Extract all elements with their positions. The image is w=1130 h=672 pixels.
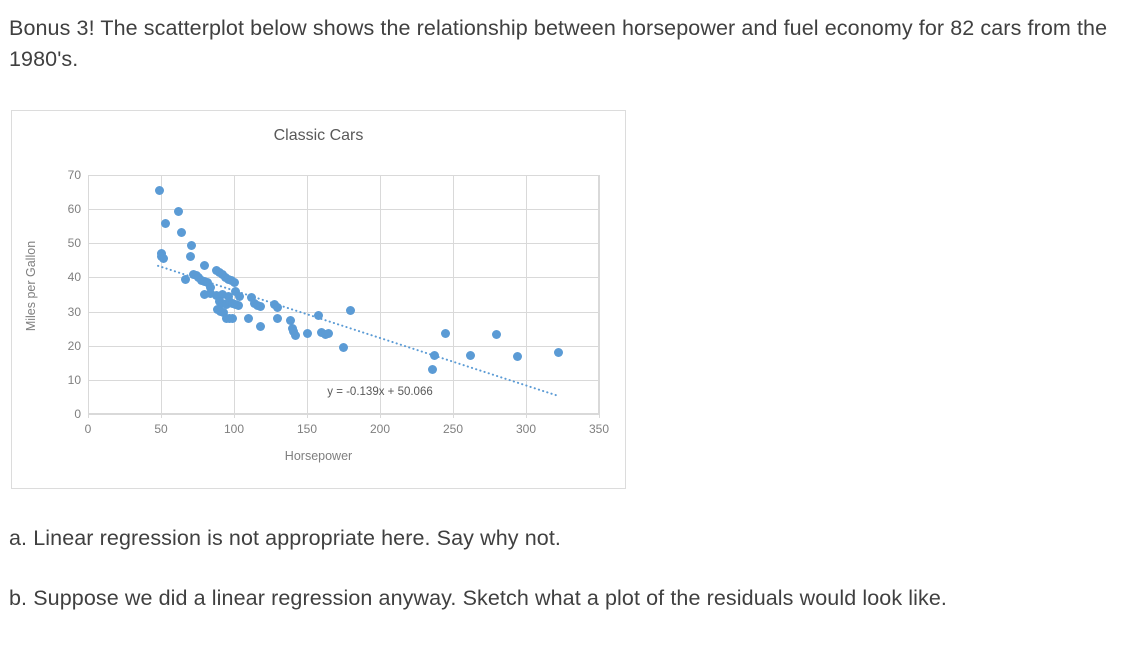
- x-axis-title: Horsepower: [12, 449, 625, 463]
- scatter-point: [430, 351, 439, 360]
- x-tick-mark: [526, 414, 527, 418]
- chart-card: Classic Cars Miles per Gallon Horsepower…: [11, 110, 626, 489]
- x-tick-mark: [234, 414, 235, 418]
- scatter-point: [230, 278, 239, 287]
- scatter-point: [186, 252, 195, 261]
- y-tick-label: 0: [74, 407, 81, 421]
- scatter-point: [346, 306, 355, 315]
- x-tick-label: 350: [589, 422, 609, 436]
- chart-title: Classic Cars: [12, 127, 625, 145]
- y-tick-label: 10: [68, 373, 81, 387]
- y-tick-label: 70: [68, 168, 81, 182]
- gridline-vertical: [599, 175, 600, 414]
- x-tick-label: 250: [443, 422, 463, 436]
- x-tick-label: 100: [224, 422, 244, 436]
- y-axis-title: Miles per Gallon: [24, 221, 38, 351]
- gridline-horizontal: [88, 414, 599, 415]
- scatter-point: [303, 329, 312, 338]
- x-tick-mark: [307, 414, 308, 418]
- x-tick-label: 200: [370, 422, 390, 436]
- x-tick-label: 150: [297, 422, 317, 436]
- scatter-point: [291, 331, 300, 340]
- x-tick-label: 50: [154, 422, 167, 436]
- intro-paragraph: Bonus 3! The scatterplot below shows the…: [9, 13, 1109, 75]
- trendline: [88, 175, 599, 414]
- x-tick-mark: [453, 414, 454, 418]
- x-tick-mark: [88, 414, 89, 418]
- question-a: a. Linear regression is not appropriate …: [9, 523, 1099, 554]
- y-tick-label: 30: [68, 305, 81, 319]
- x-tick-mark: [380, 414, 381, 418]
- x-tick-mark: [161, 414, 162, 418]
- scatter-point: [273, 303, 282, 312]
- scatter-point: [244, 314, 253, 323]
- y-tick-label: 40: [68, 270, 81, 284]
- scatter-point: [554, 348, 563, 357]
- x-tick-mark: [599, 414, 600, 418]
- worksheet-page: Bonus 3! The scatterplot below shows the…: [0, 0, 1130, 672]
- scatter-point: [314, 311, 323, 320]
- y-tick-label: 20: [68, 339, 81, 353]
- question-b: b. Suppose we did a linear regression an…: [9, 583, 1069, 614]
- scatter-point: [234, 301, 243, 310]
- scatter-point: [513, 352, 522, 361]
- scatter-point: [228, 314, 237, 323]
- x-tick-label: 300: [516, 422, 536, 436]
- scatter-point: [161, 219, 170, 228]
- trendline-equation-label: y = -0.139x + 50.066: [327, 386, 433, 398]
- y-tick-label: 60: [68, 202, 81, 216]
- y-tick-label: 50: [68, 236, 81, 250]
- scatter-point: [339, 343, 348, 352]
- plot-area: 010203040506070 050100150200250300350 y …: [88, 175, 599, 414]
- scatter-point: [256, 302, 265, 311]
- scatter-point: [177, 228, 186, 237]
- x-tick-label: 0: [85, 422, 92, 436]
